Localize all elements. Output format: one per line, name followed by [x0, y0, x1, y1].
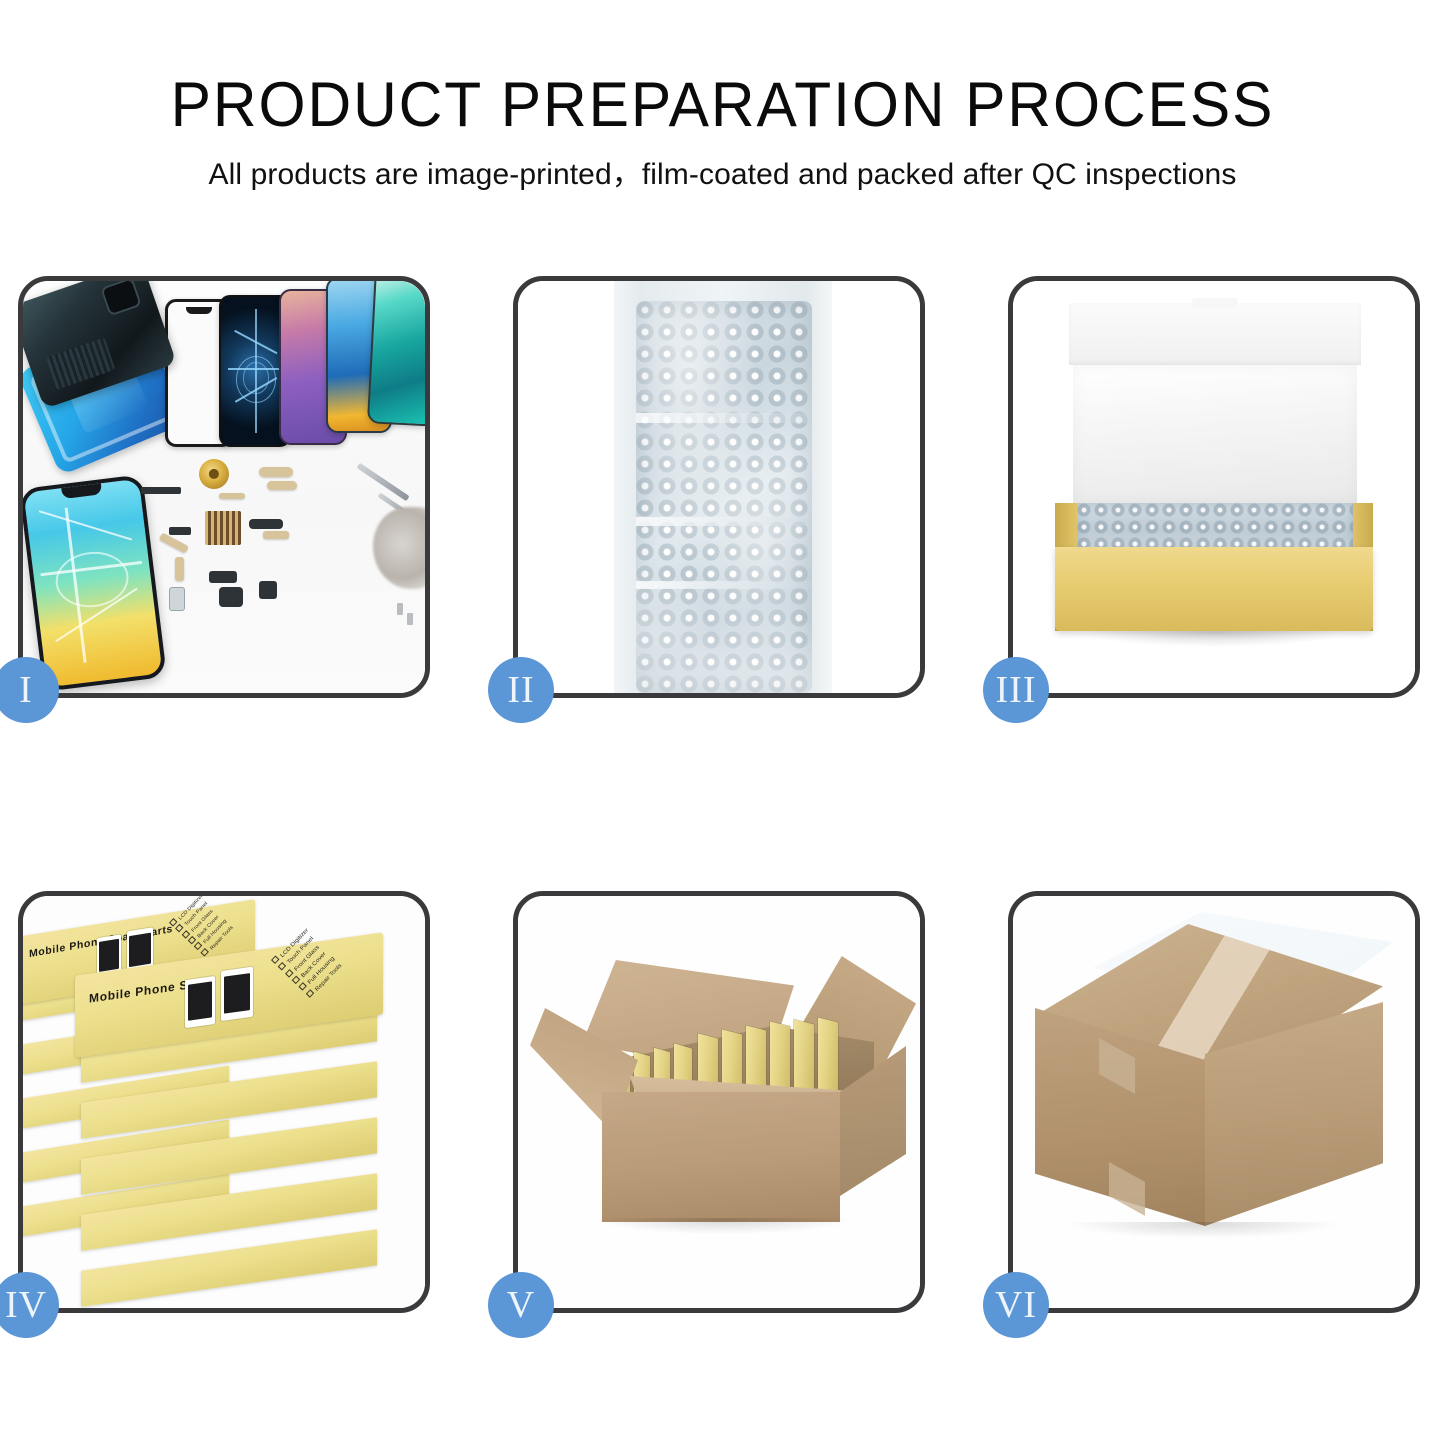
carton-shadow-sealed	[1069, 1222, 1337, 1238]
step-1-image	[23, 281, 425, 693]
connector-part-4	[259, 581, 277, 599]
carton-shadow	[598, 1218, 848, 1234]
flex-cable-part-3	[219, 493, 245, 499]
process-step-2-bubble-wrap[interactable]: II	[513, 276, 925, 698]
step-5-image	[518, 896, 920, 1308]
wrap-fold-2	[636, 517, 812, 526]
wrap-fold-3	[636, 581, 812, 589]
ic-chip-part	[205, 511, 241, 545]
flex-cable-part-6	[263, 531, 289, 539]
foam-liner	[1073, 365, 1357, 503]
bubble-wrap-surface	[636, 301, 812, 693]
flex-cable-part-2	[267, 481, 297, 490]
step-badge-5: V	[488, 1272, 554, 1338]
speaker-disc-part	[199, 459, 229, 489]
flex-cable-part-5	[175, 557, 184, 581]
antenna-strip-part	[141, 487, 181, 494]
cracked-phone-large	[23, 474, 167, 692]
packed-box-10	[818, 1018, 838, 1095]
step-4-image: Mobile Phone Spare Parts LCD Digitizer T…	[23, 896, 425, 1308]
screw-part-2	[407, 613, 413, 625]
screw-part-1	[397, 603, 403, 615]
connector-part-1	[169, 527, 191, 535]
step-6-image	[1013, 896, 1415, 1308]
teal-display-part	[367, 281, 425, 427]
box-screen-thumb-2a	[185, 976, 215, 1028]
camera-module-part	[219, 587, 243, 607]
process-step-grid: I II III	[0, 0, 1445, 1445]
connector-part-2	[249, 519, 283, 529]
carton-front-face	[602, 1092, 840, 1222]
step-badge-3: III	[983, 657, 1049, 723]
step-3-image	[1013, 281, 1415, 693]
step-badge-1: I	[0, 657, 59, 723]
step-badge-2: II	[488, 657, 554, 723]
process-step-1-spare-parts[interactable]: I	[18, 276, 430, 698]
process-step-6-sealed-carton[interactable]: VI	[1008, 891, 1420, 1313]
mailer-box-lid	[1069, 303, 1361, 365]
wrap-fold-1	[636, 413, 812, 423]
flex-cable-part-1	[259, 467, 293, 477]
sim-tray-part	[169, 587, 185, 611]
process-step-5-open-carton[interactable]: V	[513, 891, 925, 1313]
step-2-image	[518, 281, 920, 693]
box-screen-thumb-2b	[221, 967, 253, 1021]
process-step-3-mailer-box[interactable]: III	[1008, 276, 1420, 698]
connector-part-3	[209, 571, 237, 583]
box-shadow	[1085, 631, 1343, 647]
step-badge-4: IV	[0, 1272, 59, 1338]
process-step-4-stacked-boxes[interactable]: Mobile Phone Spare Parts LCD Digitizer T…	[18, 891, 430, 1313]
step-badge-6: VI	[983, 1272, 1049, 1338]
mailer-box-front	[1055, 547, 1373, 631]
